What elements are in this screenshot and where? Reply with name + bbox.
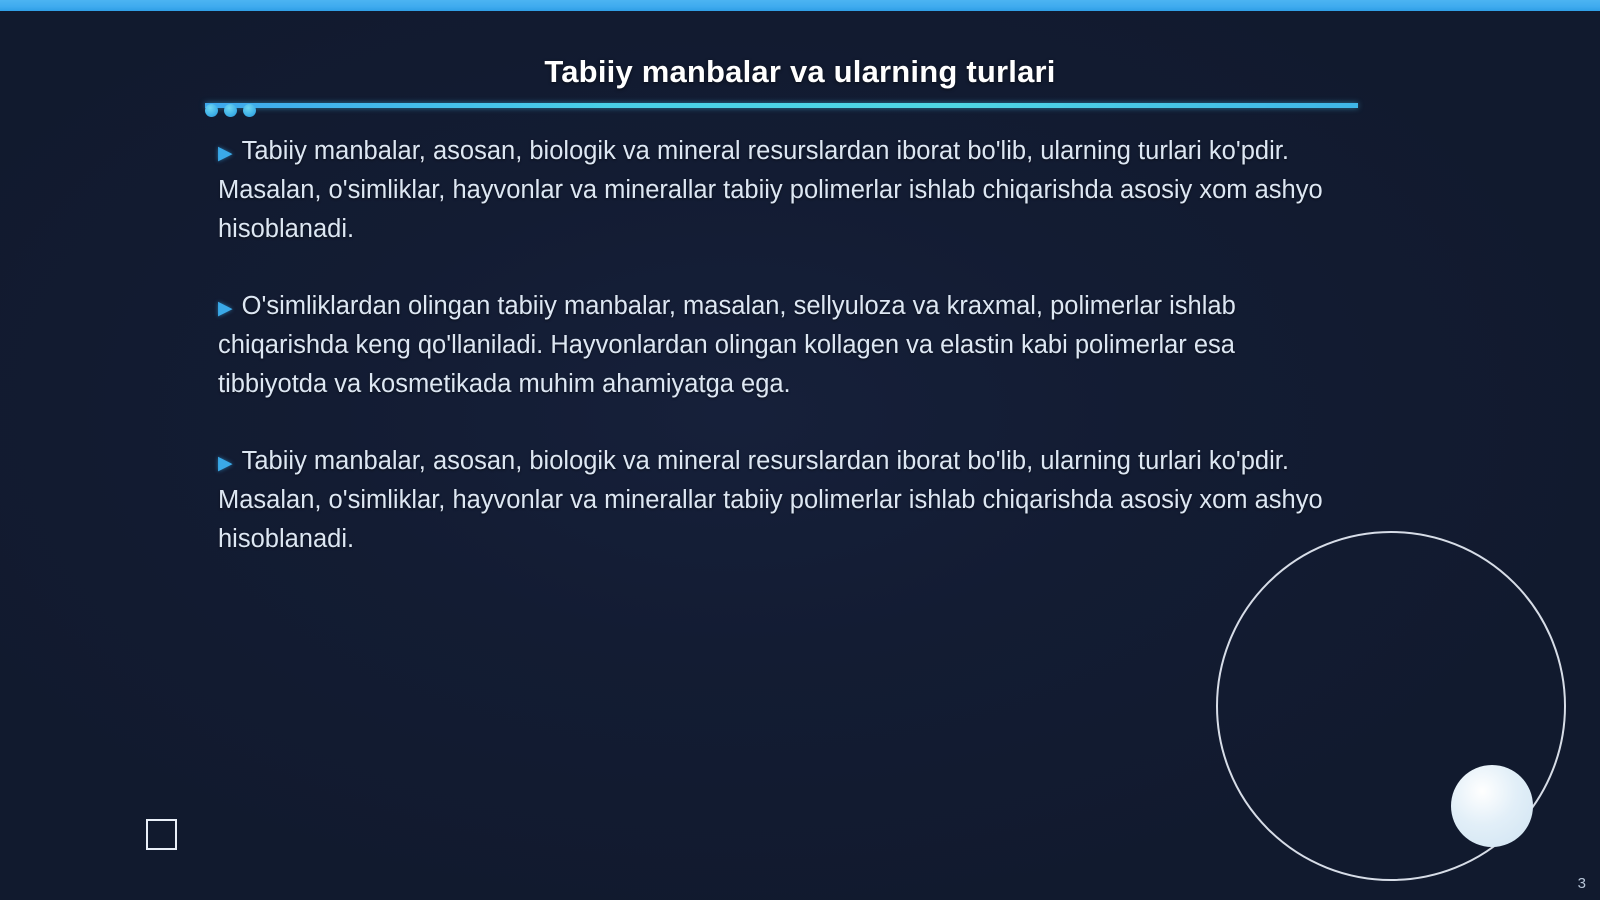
slide-canvas: Tabiiy manbalar va ularning turlari ▶Tab… (0, 0, 1600, 900)
bullet-paragraph-text: Tabiiy manbalar, asosan, biologik va min… (218, 137, 1323, 243)
bullet-paragraph-text: O'simliklardan olingan tabiiy manbalar, … (218, 292, 1236, 398)
bullet-paragraph: ▶Tabiiy manbalar, asosan, biologik va mi… (218, 442, 1348, 559)
divider-dot-1 (205, 104, 218, 117)
page-number: 3 (1578, 875, 1586, 892)
bullet-arrow-icon: ▶ (218, 143, 233, 164)
title-divider-line (205, 103, 1358, 108)
top-accent-bar (0, 0, 1600, 11)
bullet-arrow-icon: ▶ (218, 453, 233, 474)
slide-body: ▶Tabiiy manbalar, asosan, biologik va mi… (218, 132, 1348, 559)
bullet-arrow-icon: ▶ (218, 298, 233, 319)
divider-dot-3 (243, 104, 256, 117)
decorative-outline-square (146, 819, 177, 850)
bullet-paragraph: ▶Tabiiy manbalar, asosan, biologik va mi… (218, 132, 1348, 249)
divider-dot-2 (224, 104, 237, 117)
divider-dots (205, 104, 256, 117)
bullet-paragraph: ▶O'simliklardan olingan tabiiy manbalar,… (218, 287, 1348, 404)
bullet-paragraph-text: Tabiiy manbalar, asosan, biologik va min… (218, 447, 1323, 553)
page-title: Tabiiy manbalar va ularning turlari (0, 54, 1600, 90)
decorative-filled-circle (1451, 765, 1533, 847)
